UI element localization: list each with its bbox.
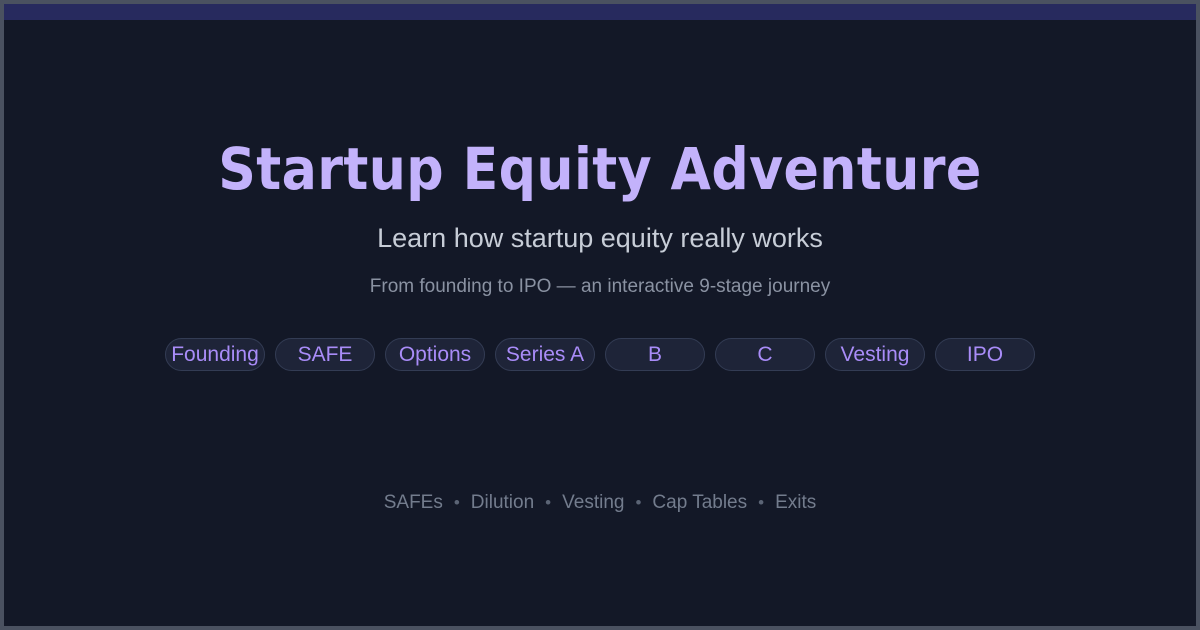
stage-pill-founding[interactable]: Founding [165,338,265,371]
stage-pill-ipo[interactable]: IPO [935,338,1035,371]
footer-separator: • [443,493,471,513]
footer-separator: • [624,493,652,513]
hero-section: Startup Equity Adventure Learn how start… [4,20,1196,626]
footer-separator: • [534,493,562,513]
stage-pill-series-c[interactable]: C [715,338,815,371]
app-frame: Startup Equity Adventure Learn how start… [4,4,1196,626]
footer-topic-cap-tables: Cap Tables [652,492,747,514]
footer-topic-exits: Exits [775,492,816,514]
stage-pill-list: Founding SAFE Options Series A B C Vesti… [165,338,1035,371]
stage-pill-series-a[interactable]: Series A [495,338,595,371]
stage-pill-series-b[interactable]: B [605,338,705,371]
footer-topic-dilution: Dilution [471,492,534,514]
stage-pill-safe[interactable]: SAFE [275,338,375,371]
footer-separator: • [747,493,775,513]
hero-tagline: From founding to IPO — an interactive 9-… [370,277,830,296]
footer-topic-list: SAFEs • Dilution • Vesting • Cap Tables … [4,492,1196,514]
top-accent-bar [4,4,1196,20]
stage-pill-options[interactable]: Options [385,338,485,371]
hero-subtitle: Learn how startup equity really works [377,225,823,252]
footer-topic-vesting: Vesting [562,492,624,514]
footer-topic-safes: SAFEs [384,492,443,514]
page-title: Startup Equity Adventure [218,140,981,198]
stage-pill-vesting[interactable]: Vesting [825,338,925,371]
